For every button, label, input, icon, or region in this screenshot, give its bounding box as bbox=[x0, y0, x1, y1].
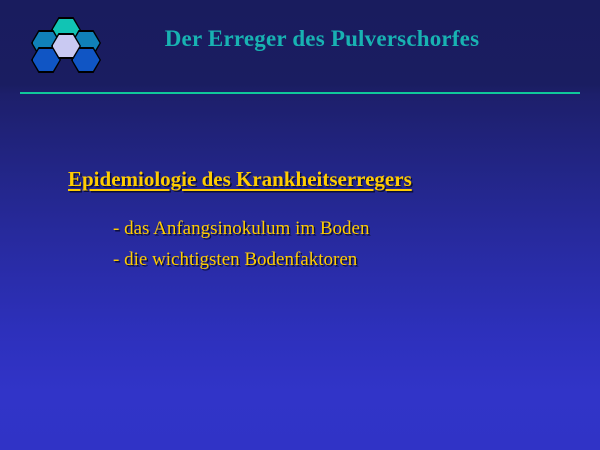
bullet-item: - die wichtigsten Bodenfaktoren bbox=[113, 249, 357, 271]
slide-header: Der Erreger des Pulverschorfes bbox=[0, 0, 600, 92]
slide-title: Der Erreger des Pulverschorfes bbox=[0, 26, 600, 52]
header-divider bbox=[20, 92, 580, 94]
bullet-item: - das Anfangsinokulum im Boden bbox=[113, 218, 369, 240]
section-heading: Epidemiologie des Krankheitserregers bbox=[68, 167, 412, 192]
presentation-slide: Der Erreger des Pulverschorfes Epidemiol… bbox=[0, 0, 600, 450]
